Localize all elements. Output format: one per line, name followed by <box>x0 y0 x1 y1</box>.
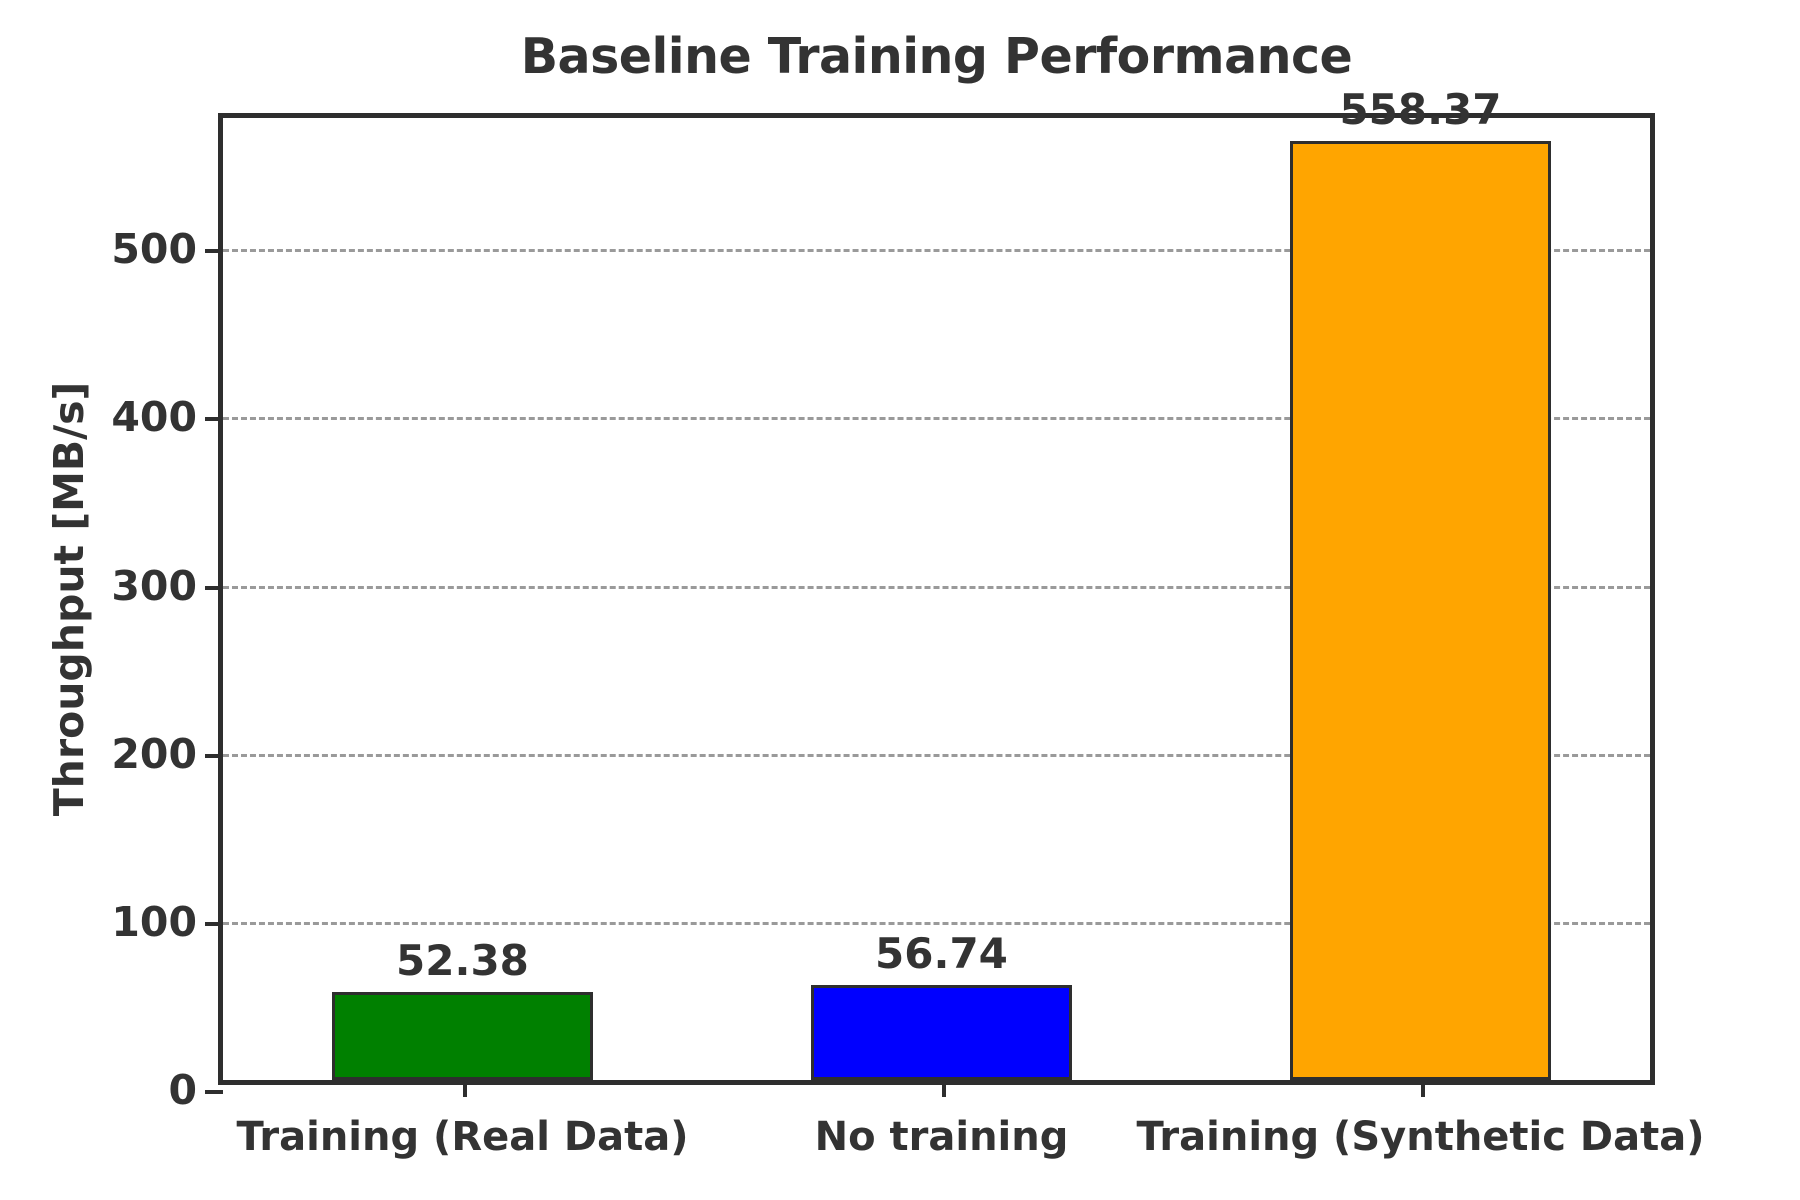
x-tick-mark-1 <box>942 1080 946 1097</box>
chart-figure: Baseline Training Performance Throughput… <box>0 0 1800 1200</box>
x-tick-mark-2 <box>1421 1080 1425 1097</box>
y-tick-label-200: 200 <box>111 730 197 778</box>
bar-value-label-0: 52.38 <box>396 936 529 985</box>
x-tick-label-0: Training (Real Data) <box>237 1114 689 1160</box>
y-axis-label: Throughput [MB/s] <box>36 113 102 1085</box>
x-tick-label-2: Training (Synthetic Data) <box>1137 1114 1705 1160</box>
bar-0[interactable]: 52.38 <box>332 992 593 1080</box>
y-tick-mark-400 <box>205 417 223 421</box>
y-tick-label-300: 300 <box>111 562 197 610</box>
y-tick-mark-100 <box>205 922 223 926</box>
bar-value-label-1: 56.74 <box>875 929 1008 978</box>
plot-area: 010020030040050052.38Training (Real Data… <box>218 113 1655 1085</box>
y-tick-mark-300 <box>205 586 223 590</box>
x-tick-label-1: No training <box>815 1114 1069 1160</box>
y-tick-label-500: 500 <box>111 225 197 273</box>
y-tick-label-0: 0 <box>168 1066 197 1114</box>
plot-inner: 010020030040050052.38Training (Real Data… <box>223 118 1650 1080</box>
bar-value-label-2: 558.37 <box>1339 85 1501 134</box>
y-tick-mark-0 <box>205 1090 223 1094</box>
y-tick-mark-500 <box>205 249 223 253</box>
bar-2[interactable]: 558.37 <box>1290 141 1551 1080</box>
chart-title: Baseline Training Performance <box>218 28 1655 85</box>
bar-1[interactable]: 56.74 <box>811 985 1072 1080</box>
y-tick-label-400: 400 <box>111 393 197 441</box>
x-tick-mark-0 <box>463 1080 467 1097</box>
y-tick-label-100: 100 <box>111 898 197 946</box>
y-tick-mark-200 <box>205 754 223 758</box>
